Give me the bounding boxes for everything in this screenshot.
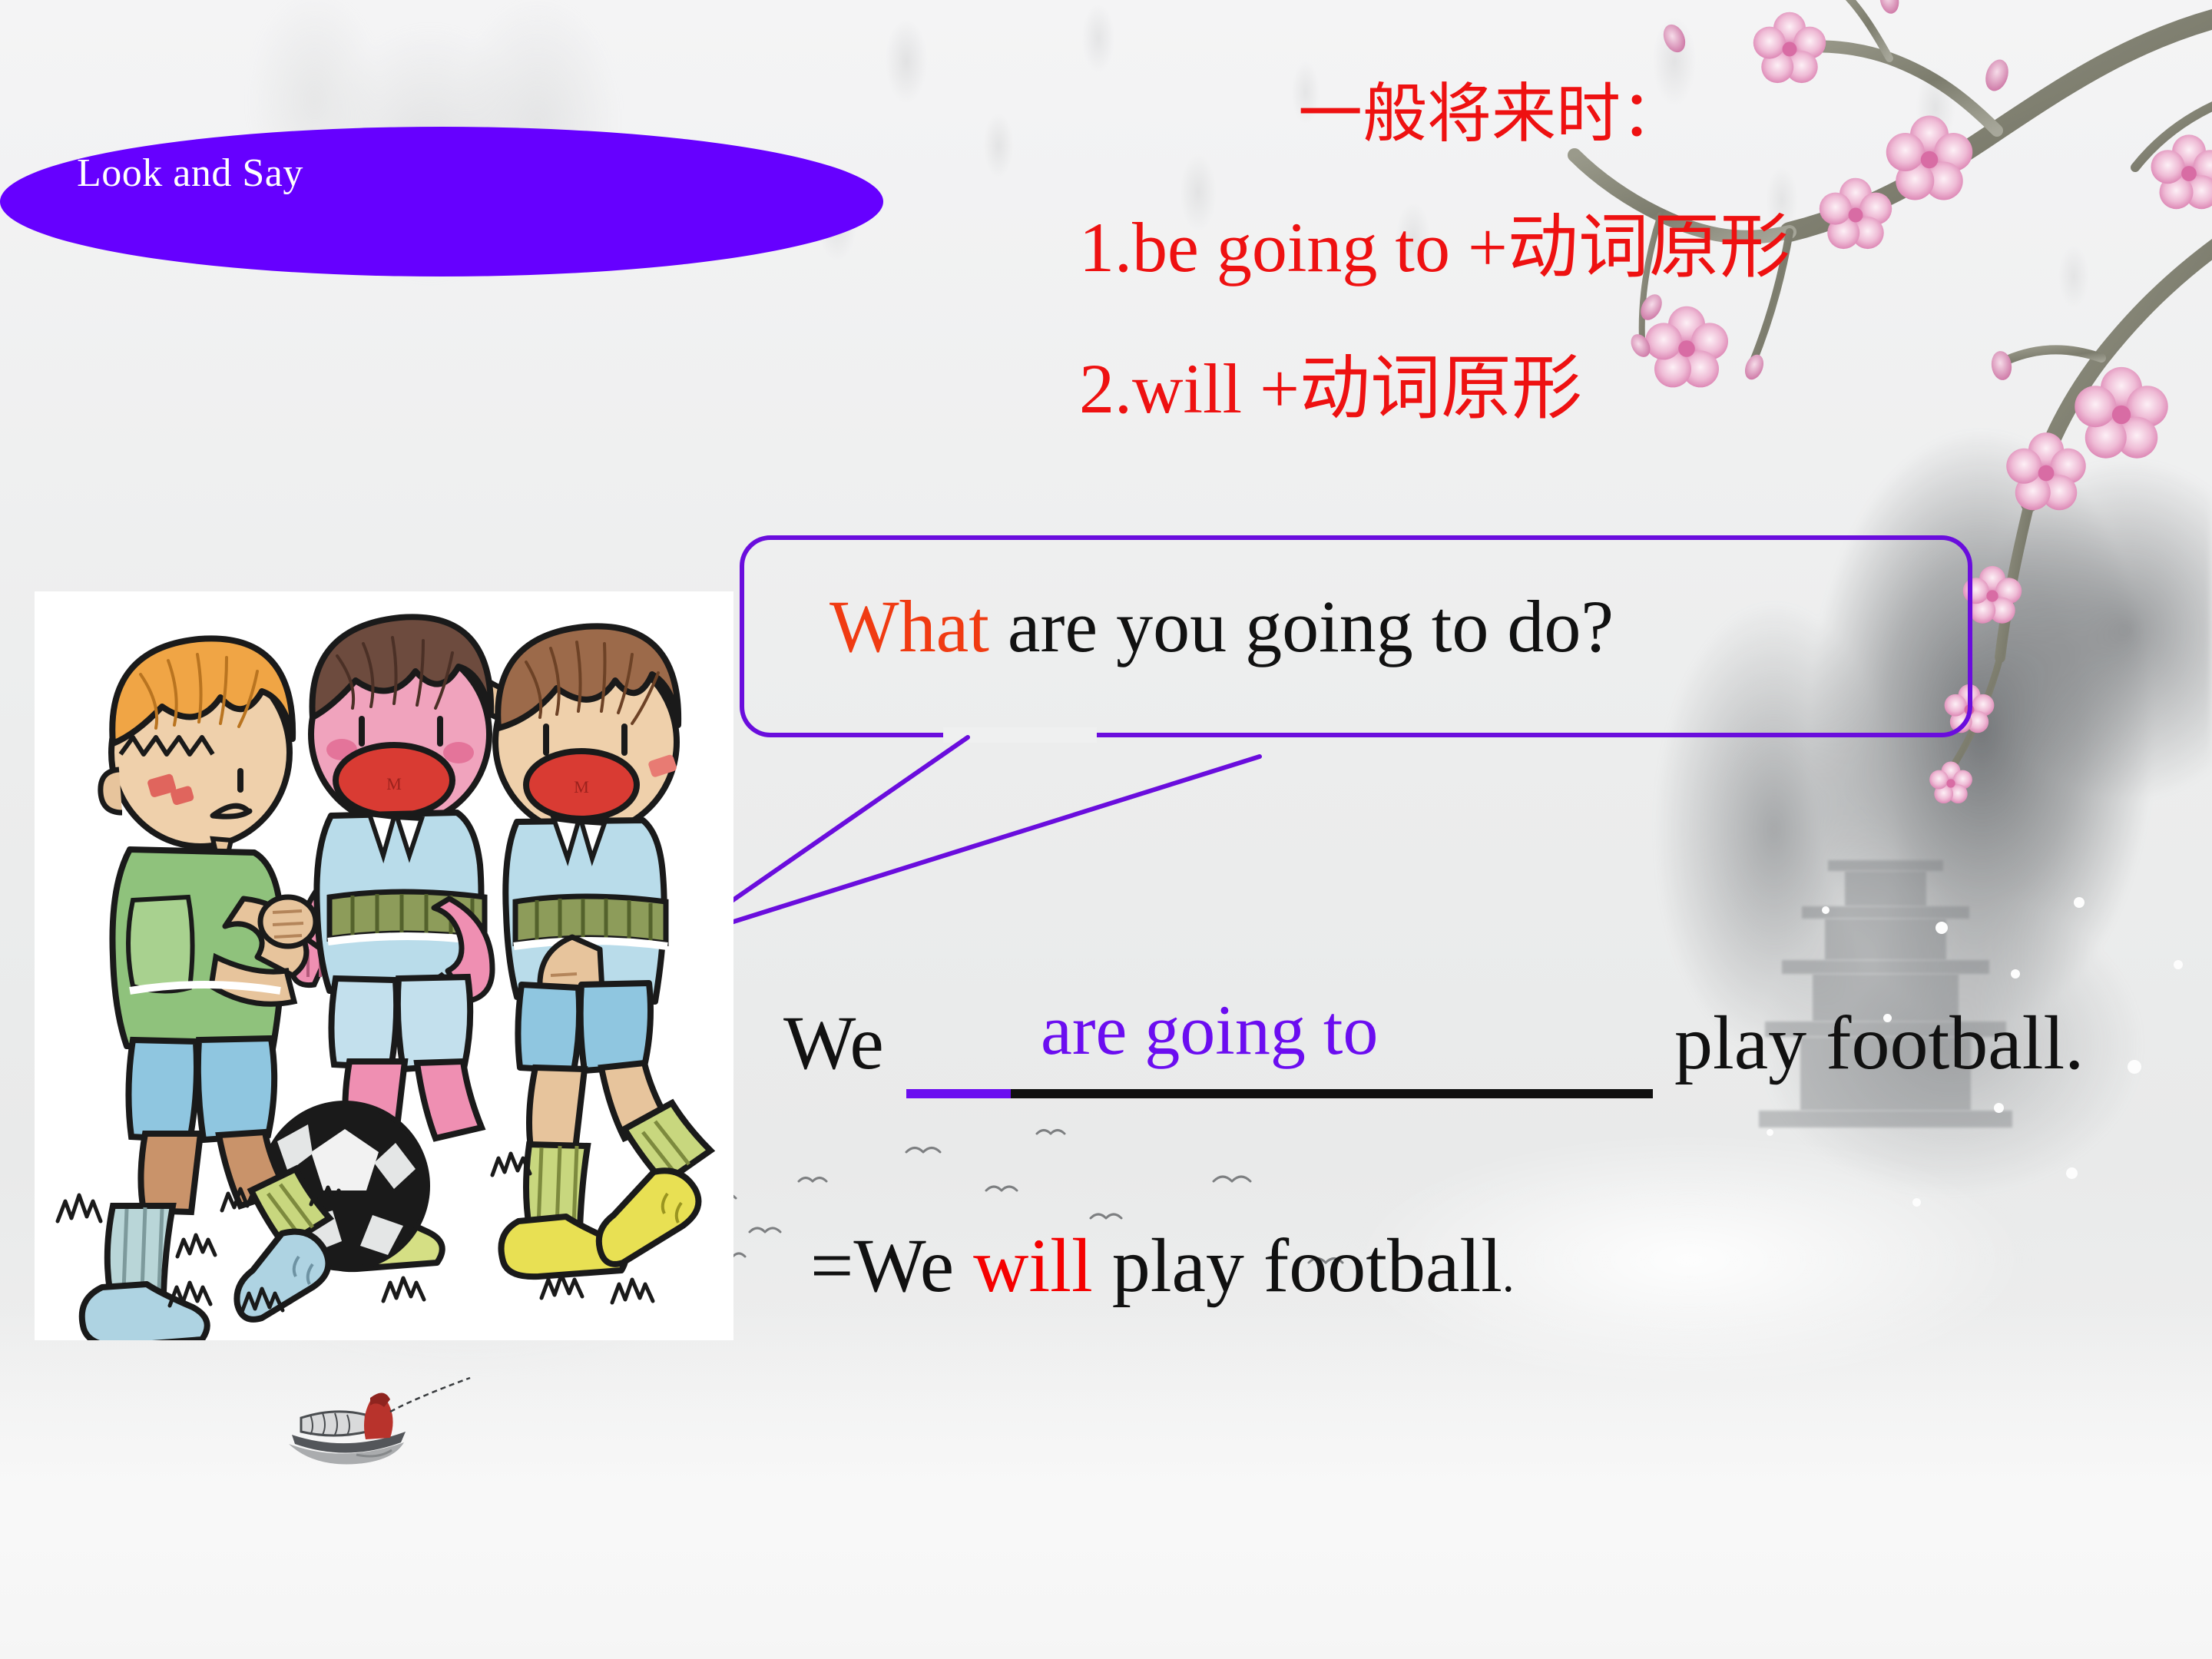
title-badge-ellipse <box>0 127 883 276</box>
fisherman-boat <box>284 1375 484 1490</box>
title-badge-label: Look and Say <box>77 151 303 196</box>
speech-bubble-tail <box>676 714 1367 945</box>
snow-fleck <box>1822 906 1830 914</box>
answer-sentence-2-highlight: will <box>973 1223 1093 1308</box>
background-mountain-right <box>1521 399 2212 1244</box>
snow-fleck <box>1994 1103 2004 1113</box>
snow-fleck <box>1912 1198 1921 1207</box>
answer-sentence-1-suffix: play football. <box>1674 998 2084 1087</box>
grammar-note-rule-1: 1.be going to +动词原形 <box>1079 212 1790 283</box>
snow-fleck <box>2128 1060 2141 1074</box>
answer-sentence-1-prefix: We <box>783 998 884 1087</box>
speech-bubble-rest: are you going to do? <box>989 585 1614 667</box>
snow-fleck <box>1767 1129 1773 1136</box>
answer-sentence-2-suffix: play football <box>1112 1223 1502 1308</box>
football-illustration: M <box>35 591 733 1340</box>
grammar-note-heading: 一般将来时： <box>1298 83 1685 147</box>
underline-segment-black <box>1011 1089 1653 1098</box>
snow-fleck <box>1936 922 1948 934</box>
speech-bubble-highlight: What <box>829 585 989 667</box>
snow-fleck <box>2066 1167 2078 1179</box>
grammar-note-rule-2: 2.will +动词原形 <box>1079 353 1582 424</box>
snow-fleck <box>2011 969 2020 979</box>
answer-blank-underline <box>906 1089 1653 1098</box>
answer-sentence-2-period: . <box>1502 1250 1515 1302</box>
speech-bubble-text: What are you going to do? <box>829 584 1614 669</box>
snow-fleck <box>2074 897 2085 908</box>
answer-sentence-2: =We will play football. <box>810 1221 1514 1310</box>
underline-segment-purple <box>906 1089 1011 1098</box>
answer-sentence-2-prefix: =We <box>810 1223 954 1308</box>
slide-canvas: Look and Say 一般将来时： 1.be going to +动词原形 … <box>0 0 2212 1659</box>
answer-blank-filled-text: are going to <box>1041 989 1378 1071</box>
svg-text:M: M <box>574 777 589 796</box>
snow-fleck <box>2174 960 2183 969</box>
svg-text:M: M <box>386 774 402 793</box>
